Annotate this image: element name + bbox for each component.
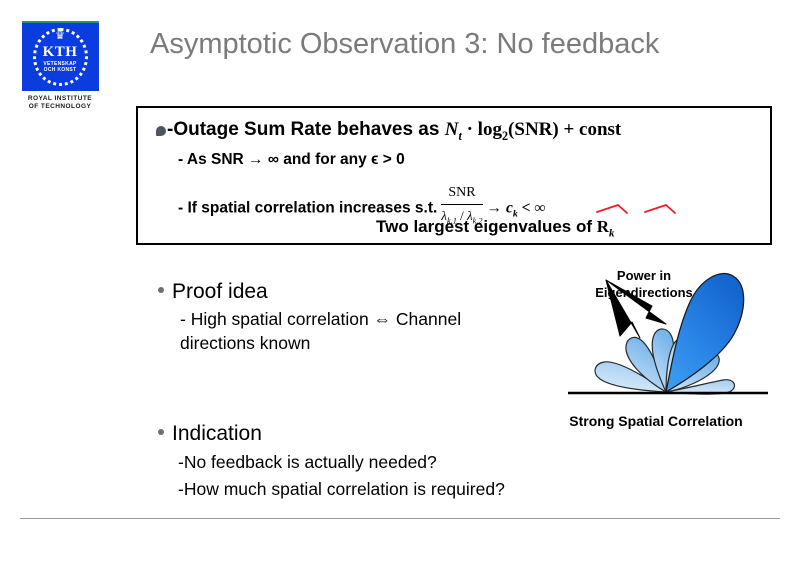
kth-logo-caption: ROYAL INSTITUTE OF TECHNOLOGY (20, 95, 100, 111)
kth-logo-caption-line1: ROYAL INSTITUTE (20, 95, 100, 103)
bullet-proof-idea-sub: - High spatial correlation ⇔ Channel dir… (180, 307, 510, 355)
matrix-r-symbol: R (597, 217, 609, 236)
bullet-proof-idea-label: Proof idea (172, 280, 268, 303)
kth-logo: ♛ KTH VETENSKAP OCH KONST ROYAL INSTITUT… (20, 21, 100, 111)
slide-canvas: ♛ KTH VETENSKAP OCH KONST ROYAL INSTITUT… (0, 0, 800, 564)
limit-arrow: → (487, 199, 506, 216)
matrix-r-subscript: k (609, 227, 614, 239)
eigenvalue-note-text: Two largest eigenvalues of (376, 217, 597, 236)
red-annotation-mark-lambda-k1 (596, 204, 630, 214)
eigendirection-power-figure: Power in Eigendirections (520, 266, 792, 432)
bullet-indication-sub-2: -How much spatial correlation is require… (178, 477, 505, 501)
figure-caption: Strong Spatial Correlation (520, 412, 792, 430)
kth-logo-motto-line2: OCH KONST (22, 67, 99, 73)
bullet-proof-idea: Proof idea (158, 279, 268, 305)
statement-line-1-tail: (SNR) + const (508, 119, 621, 140)
kth-logo-caption-line2: OF TECHNOLOGY (20, 103, 100, 111)
crown-icon: ♛ (50, 32, 70, 41)
statement-line-1-prefix: -Outage Sum Rate behaves as (167, 119, 445, 140)
annotation-arrows (606, 280, 666, 338)
bullet-dot-icon (158, 287, 164, 293)
bullet-indication-sub-1: -No feedback is actually needed? (178, 450, 437, 474)
ck-symbol: c (506, 199, 513, 216)
statement-line-3-prefix: - If spatial correlation increases s.t. (178, 199, 437, 216)
bullet-indication: Indication (158, 421, 262, 447)
arrow-down-left-icon (606, 280, 640, 338)
page-title: Asymptotic Observation 3: No feedback (150, 26, 780, 62)
line-3-tail-rest: < ∞ (518, 199, 546, 216)
statement-line-4: Two largest eigenvalues of Rk (376, 216, 614, 244)
footer-divider (20, 518, 780, 519)
epsilon-glyph-icon (156, 126, 166, 136)
bullet-dot-icon (158, 429, 164, 435)
beam-pattern-diagram (520, 266, 792, 412)
statement-line-2: - As SNR → ∞ and for any ϵ > 0 (178, 150, 405, 170)
bullet-indication-label: Indication (172, 422, 262, 445)
fraction-numerator: SNR (441, 183, 482, 205)
kth-logo-letters: KTH (22, 45, 99, 60)
red-annotation-mark-lambda-k2 (644, 204, 678, 214)
kth-logo-mark: ♛ KTH VETENSKAP OCH KONST (22, 21, 99, 91)
statement-line-1: -Outage Sum Rate behaves as Nt · log2(SN… (156, 118, 621, 148)
statement-box: -Outage Sum Rate behaves as Nt · log2(SN… (136, 106, 772, 245)
statement-log-operator: · log (462, 119, 502, 140)
statement-nt-symbol: N (445, 119, 459, 140)
